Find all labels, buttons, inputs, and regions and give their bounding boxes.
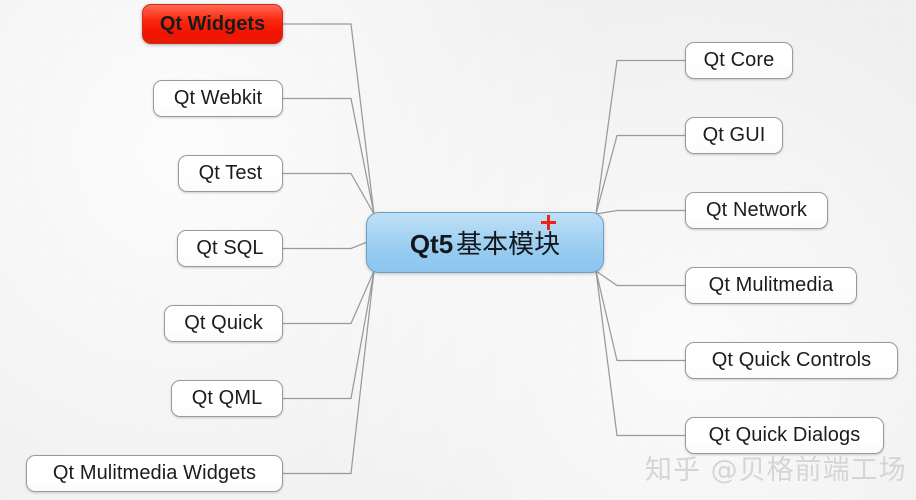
branch-node-label: Qt GUI (703, 124, 766, 147)
branch-node[interactable]: Qt Mulitmedia (685, 267, 857, 304)
connector-line (596, 271, 685, 436)
central-node-cjk: 基本模块 (453, 229, 560, 259)
central-node[interactable]: Qt5基本模块 (366, 212, 604, 273)
connector-line (596, 136, 685, 215)
connector-line (283, 24, 374, 214)
branch-node[interactable]: Qt Widgets (142, 4, 283, 44)
connector-line (596, 211, 685, 215)
branch-node[interactable]: Qt SQL (177, 230, 283, 267)
branch-node-label: Qt Mulitmedia (709, 274, 834, 297)
branch-node[interactable]: Qt QML (171, 380, 283, 417)
connector-line (283, 271, 374, 324)
branch-node-label: Qt Quick Controls (712, 349, 872, 372)
connector-line (283, 243, 366, 249)
watermark: 知乎 @贝格前端工场 (645, 448, 907, 487)
branch-node[interactable]: Qt Quick (164, 305, 283, 342)
branch-node[interactable]: Qt GUI (685, 117, 783, 154)
connector-line (596, 271, 685, 361)
connector-line (283, 271, 374, 399)
branch-node-label: Qt Test (199, 162, 263, 185)
branch-node-label: Qt Widgets (160, 13, 265, 36)
branch-node-label: Qt SQL (196, 237, 263, 260)
branch-node-label: Qt Mulitmedia Widgets (53, 462, 256, 485)
connector-line (283, 174, 374, 215)
branch-node[interactable]: Qt Quick Controls (685, 342, 898, 379)
connector-line (596, 61, 685, 215)
branch-node[interactable]: Qt Core (685, 42, 793, 79)
mindmap-canvas: Qt WidgetsQt WebkitQt TestQt SQLQt Quick… (0, 0, 916, 500)
branch-node-label: Qt QML (192, 387, 263, 410)
branch-node[interactable]: Qt Network (685, 192, 828, 229)
branch-node[interactable]: Qt Test (178, 155, 283, 192)
branch-node-label: Qt Quick Dialogs (709, 424, 861, 447)
branch-node-label: Qt Network (706, 199, 807, 222)
connector-line (596, 271, 685, 286)
branch-node-label: Qt Core (704, 49, 775, 72)
branch-node-label: Qt Quick (184, 312, 263, 335)
branch-node[interactable]: Qt Mulitmedia Widgets (26, 455, 283, 492)
central-node-latin: Qt5 (410, 229, 453, 259)
central-node-label: Qt5基本模块 (410, 224, 560, 261)
connector-line (283, 99, 374, 215)
branch-node-label: Qt Webkit (174, 87, 262, 110)
branch-node[interactable]: Qt Webkit (153, 80, 283, 117)
